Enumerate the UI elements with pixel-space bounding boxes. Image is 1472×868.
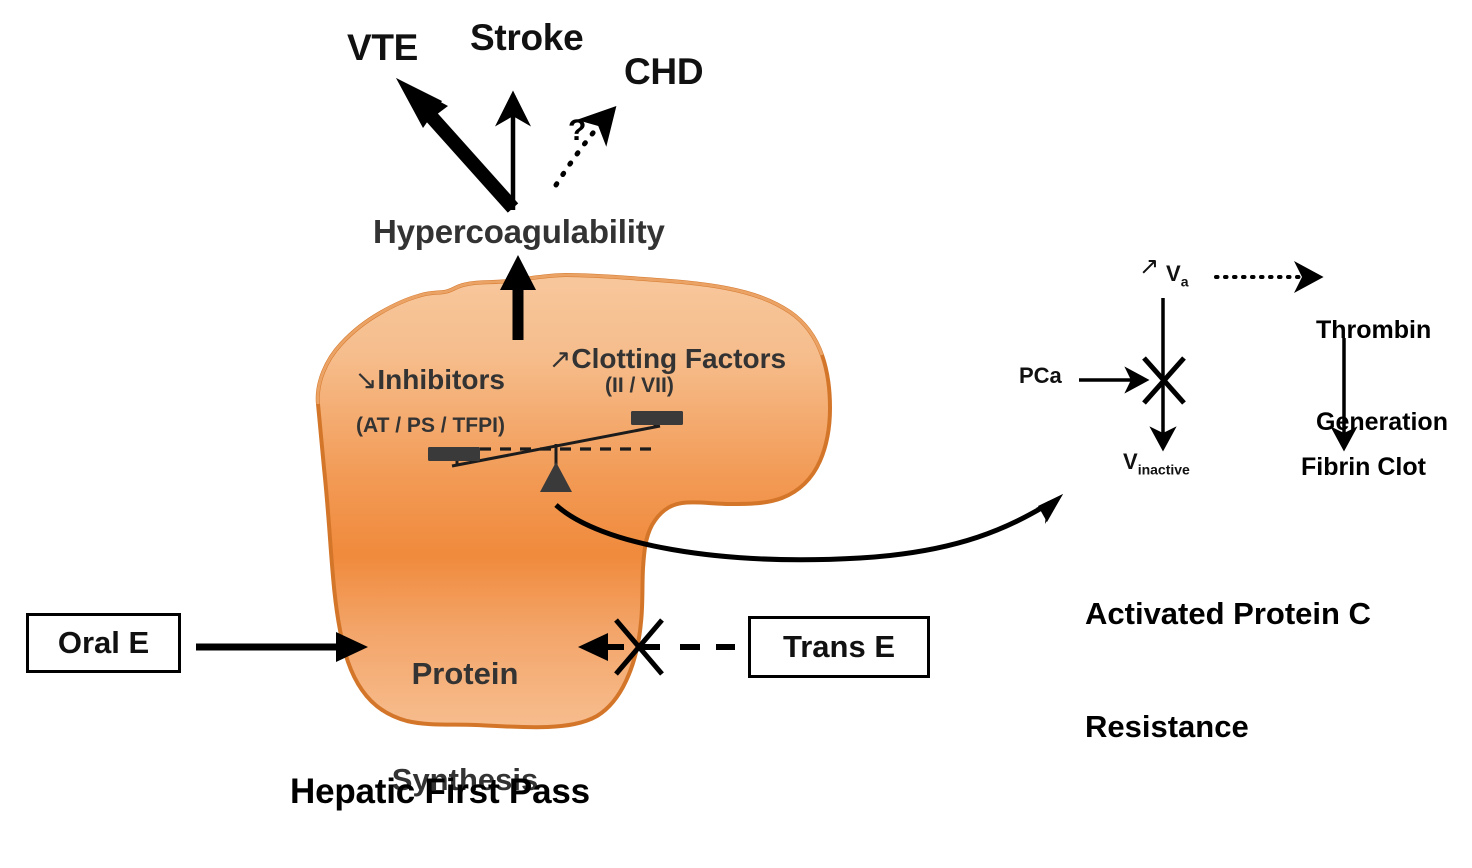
v-inactive-label: Vinactive xyxy=(1123,450,1190,478)
outcome-stroke: Stroke xyxy=(470,18,583,58)
clotting-factors-label: Clotting Factors xyxy=(571,343,786,374)
outcome-chd: CHD xyxy=(624,52,703,92)
vte-arrow xyxy=(396,78,513,208)
pca-label: PCa xyxy=(1019,364,1062,388)
thrombin-generation-line1: Thrombin xyxy=(1316,315,1448,346)
apc-resistance-line1: Activated Protein C xyxy=(1085,595,1371,633)
chd-question-mark: ? xyxy=(568,115,586,147)
va-label: Va xyxy=(1166,262,1188,290)
figure-caption: Hepatic First Pass xyxy=(290,773,590,811)
va-increase-arrow-icon: ↗ xyxy=(1139,254,1159,280)
oral-e-box[interactable]: Oral E xyxy=(26,613,181,673)
diagram-canvas: VTE Stroke CHD ? Hypercoagulability ↗Clo… xyxy=(0,0,1472,841)
apc-resistance-title: Activated Protein C Resistance xyxy=(1085,519,1371,822)
fibrin-clot-label: Fibrin Clot xyxy=(1301,452,1426,483)
trans-e-box[interactable]: Trans E xyxy=(748,616,930,678)
hypercoagulability-label: Hypercoagulability xyxy=(373,214,665,250)
clotting-factors-sublabel: (II / VII) xyxy=(605,375,674,398)
inhibitors-group: ↘Inhibitors xyxy=(337,348,505,413)
inhibitors-label: Inhibitors xyxy=(377,364,505,395)
down-right-arrow-icon: ↘ xyxy=(355,365,378,396)
outcome-vte: VTE xyxy=(347,28,418,68)
oral-e-arrow xyxy=(196,632,368,662)
apc-subdiagram xyxy=(1079,277,1344,448)
apc-resistance-line2: Resistance xyxy=(1085,708,1371,746)
protein-synthesis-line1: Protein xyxy=(370,656,560,691)
inhibitors-sublabel: (AT / PS / TFPI) xyxy=(356,415,505,438)
thrombin-generation-line2: Generation xyxy=(1316,407,1448,438)
protein-synthesis-label: Protein Synthesis xyxy=(370,585,560,868)
up-right-arrow-icon: ↗ xyxy=(549,344,572,375)
